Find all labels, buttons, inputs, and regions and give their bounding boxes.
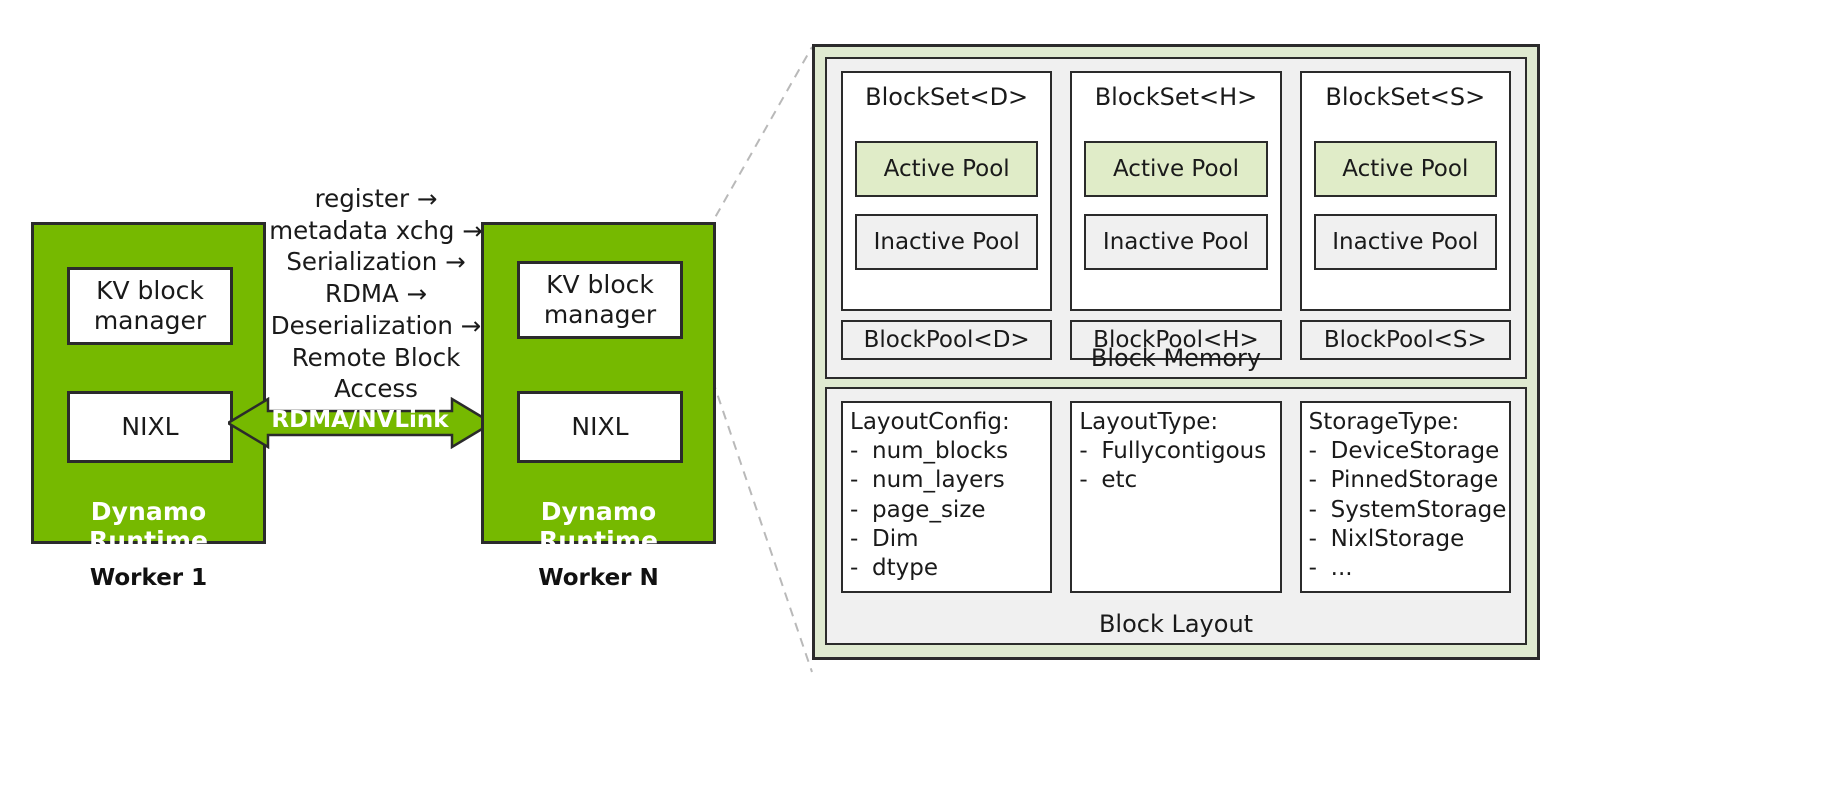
nixl-label: NIXL (571, 412, 628, 443)
protocol-step-2: Serialization → (268, 246, 484, 278)
blockset-s-title: BlockSet<S> (1314, 83, 1497, 111)
kv-block-manager-line1: KV block (546, 270, 654, 299)
list-item: -... (1309, 554, 1502, 583)
bullet-dash: - (1309, 496, 1331, 525)
list-item: -SystemStorage (1309, 496, 1502, 525)
storage-type-title: StorageType: (1309, 408, 1502, 437)
block-layout-columns: LayoutConfig: -num_blocks -num_layers -p… (841, 401, 1511, 593)
list-item-label: Fullycontigous (1101, 437, 1266, 466)
worker-n: KV block manager NIXL Dynamo Runtime Wor… (481, 222, 716, 662)
protocol-flow-text: register → metadata xchg → Serialization… (268, 183, 484, 405)
blockset-d-title: BlockSet<D> (855, 83, 1038, 111)
kv-block-manager-line1: KV block (96, 276, 204, 305)
worker-n-runtime-label: Dynamo Runtime (484, 497, 713, 555)
list-item-label: PinnedStorage (1331, 466, 1499, 495)
list-item: -Fullycontigous (1079, 437, 1272, 466)
block-layout-caption: Block Layout (827, 610, 1525, 638)
list-item-label: etc (1101, 466, 1137, 495)
protocol-step-0: register → (268, 183, 484, 215)
list-item: -PinnedStorage (1309, 466, 1502, 495)
list-item: -NixlStorage (1309, 525, 1502, 554)
nixl-label: NIXL (121, 412, 178, 443)
inactive-pool-h[interactable]: Inactive Pool (1084, 214, 1267, 270)
block-layout-section: LayoutConfig: -num_blocks -num_layers -p… (825, 387, 1527, 645)
bullet-dash: - (1079, 466, 1101, 495)
block-memory-column-h: BlockSet<H> Active Pool Inactive Pool Bl… (1070, 71, 1281, 360)
protocol-step-1: metadata xchg → (268, 215, 484, 247)
bullet-dash: - (1309, 525, 1331, 554)
layout-config-title: LayoutConfig: (850, 408, 1043, 437)
layout-type-list: -Fullycontigous -etc (1079, 437, 1272, 495)
layout-type-title: LayoutType: (1079, 408, 1272, 437)
block-memory-section: BlockSet<D> Active Pool Inactive Pool Bl… (825, 57, 1527, 379)
active-pool-d[interactable]: Active Pool (855, 141, 1038, 197)
list-item: -dtype (850, 554, 1043, 583)
worker-n-nixl[interactable]: NIXL (517, 391, 683, 463)
layout-config-card[interactable]: LayoutConfig: -num_blocks -num_layers -p… (841, 401, 1052, 593)
arrow-shape (228, 399, 492, 447)
list-item: -num_layers (850, 466, 1043, 495)
list-item: -Dim (850, 525, 1043, 554)
worker-1-kv-block-manager[interactable]: KV block manager (67, 267, 233, 345)
diagram-canvas: KV block manager NIXL Dynamo Runtime Wor… (0, 0, 1823, 803)
list-item: -DeviceStorage (1309, 437, 1502, 466)
active-pool-s[interactable]: Active Pool (1314, 141, 1497, 197)
list-item-label: ... (1331, 554, 1353, 583)
blockset-d[interactable]: BlockSet<D> Active Pool Inactive Pool (841, 71, 1052, 311)
list-item-label: num_layers (872, 466, 1005, 495)
rdma-nvlink-arrow (228, 397, 492, 449)
list-item: -page_size (850, 496, 1043, 525)
bullet-dash: - (1309, 437, 1331, 466)
bullet-dash: - (1309, 554, 1331, 583)
kv-block-manager-line2: manager (94, 306, 206, 335)
blockset-h[interactable]: BlockSet<H> Active Pool Inactive Pool (1070, 71, 1281, 311)
list-item-label: page_size (872, 496, 986, 525)
bullet-dash: - (1079, 437, 1101, 466)
bullet-dash: - (850, 496, 872, 525)
block-memory-column-s: BlockSet<S> Active Pool Inactive Pool Bl… (1300, 71, 1511, 360)
worker-n-caption: Worker N (481, 565, 716, 591)
worker-1-runtime-label: Dynamo Runtime (34, 497, 263, 555)
list-item: -etc (1079, 466, 1272, 495)
layout-type-card[interactable]: LayoutType: -Fullycontigous -etc (1070, 401, 1281, 593)
inactive-pool-d[interactable]: Inactive Pool (855, 214, 1038, 270)
list-item-label: dtype (872, 554, 938, 583)
protocol-step-4: Deserialization → (268, 310, 484, 342)
blockset-h-title: BlockSet<H> (1084, 83, 1267, 111)
storage-type-list: -DeviceStorage -PinnedStorage -SystemSto… (1309, 437, 1502, 583)
list-item: -num_blocks (850, 437, 1043, 466)
worker-1-caption: Worker 1 (31, 565, 266, 591)
inactive-pool-s[interactable]: Inactive Pool (1314, 214, 1497, 270)
blockset-s[interactable]: BlockSet<S> Active Pool Inactive Pool (1300, 71, 1511, 311)
list-item-label: DeviceStorage (1331, 437, 1500, 466)
protocol-step-5: Remote Block (268, 342, 484, 374)
worker-n-kv-block-manager[interactable]: KV block manager (517, 261, 683, 339)
block-memory-caption: Block Memory (827, 344, 1525, 372)
bullet-dash: - (1309, 466, 1331, 495)
kv-block-manager-detail-panel: BlockSet<D> Active Pool Inactive Pool Bl… (812, 44, 1540, 660)
worker-1-runtime-box: KV block manager NIXL Dynamo Runtime (31, 222, 266, 544)
kv-block-manager-line2: manager (544, 300, 656, 329)
list-item-label: NixlStorage (1331, 525, 1465, 554)
storage-type-card[interactable]: StorageType: -DeviceStorage -PinnedStora… (1300, 401, 1511, 593)
list-item-label: Dim (872, 525, 919, 554)
list-item-label: SystemStorage (1331, 496, 1507, 525)
list-item-label: num_blocks (872, 437, 1008, 466)
block-memory-column-d: BlockSet<D> Active Pool Inactive Pool Bl… (841, 71, 1052, 360)
bullet-dash: - (850, 554, 872, 583)
active-pool-h[interactable]: Active Pool (1084, 141, 1267, 197)
worker-n-runtime-box: KV block manager NIXL Dynamo Runtime (481, 222, 716, 544)
worker-1-nixl[interactable]: NIXL (67, 391, 233, 463)
protocol-step-3: RDMA → (268, 278, 484, 310)
bullet-dash: - (850, 437, 872, 466)
block-memory-columns: BlockSet<D> Active Pool Inactive Pool Bl… (841, 71, 1511, 360)
bullet-dash: - (850, 466, 872, 495)
bullet-dash: - (850, 525, 872, 554)
layout-config-list: -num_blocks -num_layers -page_size -Dim … (850, 437, 1043, 583)
